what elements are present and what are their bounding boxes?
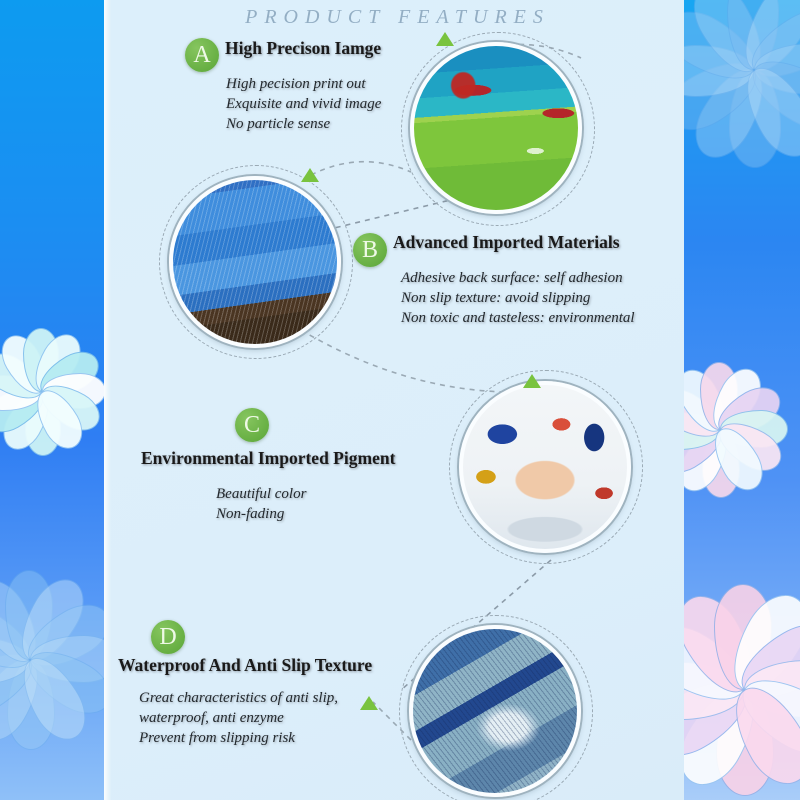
arrow-d [360,696,378,710]
heading-a: High Precison Iamge [225,38,381,59]
badge-d: D [151,620,185,654]
left-decorative-band [0,0,104,800]
product-features-poster: PRODUCT FEATURES A High Precison Iamge H… [0,0,800,800]
right-decorative-band [684,0,800,800]
arrow-a [436,32,454,46]
arrow-b [301,168,319,182]
body-a: High pecision print out Exquisite and vi… [226,74,381,134]
badge-c: C [235,408,269,442]
heading-d: Waterproof And Anti Slip Texture [118,655,372,676]
main-panel: PRODUCT FEATURES A High Precison Iamge H… [111,0,684,800]
body-b: Adhesive back surface: self adhesion Non… [401,268,635,328]
left-edge-highlight [104,0,111,800]
heading-c: Environmental Imported Pigment [141,448,395,469]
arrow-c [523,374,541,388]
photo-a [410,42,582,214]
photo-c [459,381,631,553]
body-c: Beautiful color Non-fading [216,484,306,524]
heading-b: Advanced Imported Materials [393,232,620,253]
badge-b: B [353,233,387,267]
body-d: Great characteristics of anti slip, wate… [139,688,338,748]
badge-a: A [185,38,219,72]
photo-d [409,625,581,797]
photo-b [169,176,341,348]
